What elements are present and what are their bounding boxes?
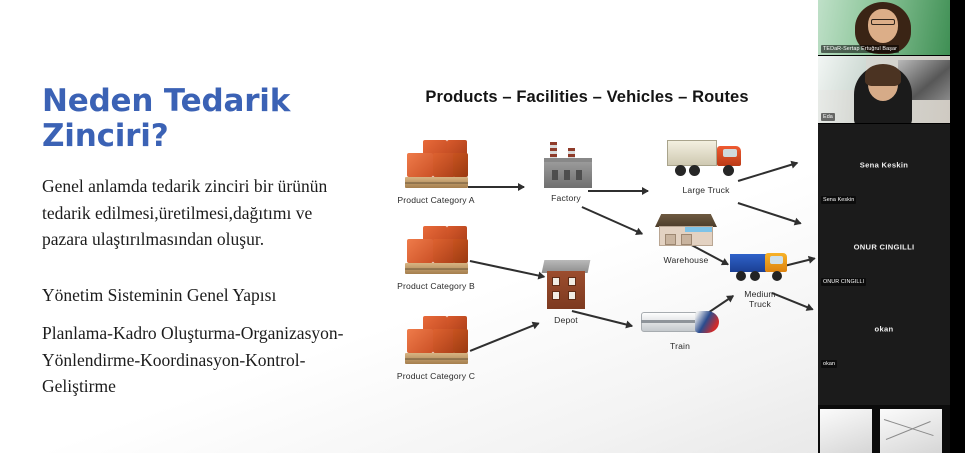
avatar-hair [865,64,901,86]
page-title: Neden Tedarik Zinciri? [42,84,360,153]
depot-icon [541,260,591,312]
participant-name-corner: Sena Keskin [821,196,856,204]
video-tile-participant[interactable]: Eda [818,56,950,123]
video-tile-speaker[interactable]: TEDaR-Sertap Ertuğrul Başar [818,0,950,55]
pallet-icon [403,140,469,192]
node-train: Train [634,306,726,351]
node-large-truck: Large Truck [658,136,754,195]
node-label: Depot [532,315,600,325]
node-depot: Depot [532,260,600,325]
slide-paragraph-subhead: Yönetim Sisteminin Genel Yapısı [42,282,360,308]
node-label: Train [634,341,726,351]
node-label: Warehouse [644,255,728,265]
node-product-category-c: Product Category C [388,316,484,381]
video-tile-name: TEDaR-Sertap Ertuğrul Başar [821,45,899,53]
factory-icon [538,140,594,190]
participant-tile-1[interactable]: Sena Keskin Sena Keskin [818,124,950,206]
node-product-category-a: Product Category A [388,140,484,205]
participant-rail[interactable]: TEDaR-Sertap Ertuğrul Başar Eda Sena Kes… [818,0,965,453]
avatar-face [868,9,898,43]
slide-paragraph-list: Planlama-Kadro Oluşturma-Organizasyon-Yö… [42,320,360,399]
arrow-factory-warehouse [582,206,643,234]
room-pane-right [880,409,942,453]
diagram-title: Products – Facilities – Vehicles – Route… [372,88,802,107]
room-pane-left [820,409,872,453]
pallet-icon [403,316,469,368]
shared-slide: Neden Tedarik Zinciri? Genel anlamda ted… [0,0,818,453]
participant-tile-2[interactable]: ONUR CINGILLI ONUR CINGILLI [818,206,950,288]
node-product-category-b: Product Category B [388,226,484,291]
train-icon [641,306,719,338]
video-tile-name: Eda [821,113,835,121]
node-medium-truck: Medium Truck [724,250,796,310]
medium-truck-icon [730,250,790,286]
node-label: Medium Truck [724,289,796,310]
participant-name: Sena Keskin [818,161,950,170]
participant-name-corner: ONUR CINGILLI [821,278,866,286]
node-factory: Factory [530,140,602,203]
large-truck-icon [667,136,745,182]
arrow-largetruck-out2 [738,202,801,224]
node-label: Large Truck [658,185,754,195]
participant-name-corner: okan [821,360,837,368]
node-label: Factory [530,193,602,203]
node-label: Product Category C [388,371,484,381]
video-tile-room[interactable] [818,405,950,453]
slide-text-column: Neden Tedarik Zinciri? Genel anlamda ted… [42,84,360,399]
participant-tile-3[interactable]: okan okan [818,288,950,370]
slide-paragraph-intro: Genel anlamda tedarik zinciri bir ürünün… [42,173,360,252]
node-label: Product Category A [388,195,484,205]
participant-name: ONUR CINGILLI [818,243,950,252]
participant-rail-inner: TEDaR-Sertap Ertuğrul Başar Eda Sena Kes… [818,0,950,453]
node-warehouse: Warehouse [644,212,728,265]
node-label: Product Category B [388,281,484,291]
pallet-icon [403,226,469,278]
supply-chain-diagram: Products – Facilities – Vehicles – Route… [372,78,818,408]
glasses-icon [871,19,895,25]
warehouse-icon [655,212,717,252]
meeting-screen: Neden Tedarik Zinciri? Genel anlamda ted… [0,0,965,453]
participant-name: okan [818,325,950,334]
